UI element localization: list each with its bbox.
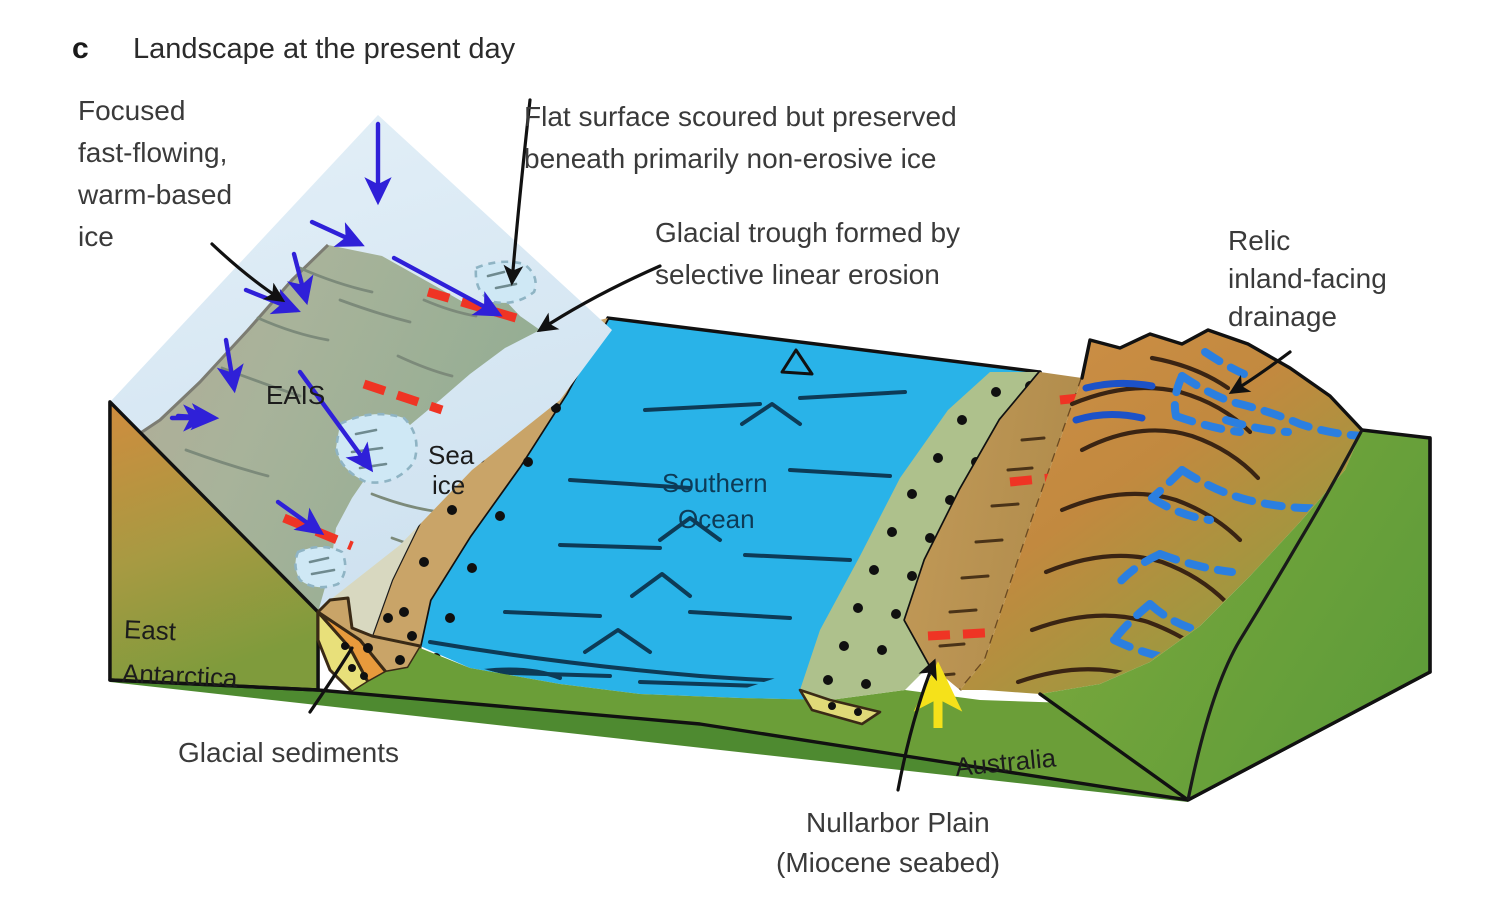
svg-text:Antarctica: Antarctica	[121, 658, 238, 693]
callout-line: (Miocene seabed)	[776, 847, 1000, 878]
block-diagram: c Landscape at the present day	[0, 0, 1506, 904]
svg-text:East: East	[123, 614, 177, 646]
callout-flat-surface: Flat surface scoured but preserved benea…	[524, 101, 957, 174]
callout-focused-ice: Focused fast-flowing, warm-based ice	[77, 95, 232, 252]
callout-line: inland-facing	[1228, 263, 1387, 294]
panel-letter: c	[72, 32, 89, 65]
svg-text:ice: ice	[432, 470, 465, 500]
callout-line: ice	[78, 221, 114, 252]
callout-glacial-trough: Glacial trough formed by selective linea…	[655, 217, 960, 290]
callout-line: Focused	[78, 95, 185, 126]
callout-relic-drainage: Relic inland-facing drainage	[1228, 225, 1387, 332]
callout-glacial-sediments: Glacial sediments	[178, 737, 399, 768]
label-eais: EAIS	[266, 380, 325, 410]
callout-line: drainage	[1228, 301, 1337, 332]
figure-panel-c: c Landscape at the present day	[0, 0, 1506, 904]
callout-line: beneath primarily non-erosive ice	[524, 143, 936, 174]
callout-line: Glacial trough formed by	[655, 217, 960, 248]
callout-line: Glacial sediments	[178, 737, 399, 768]
callout-nullarbor-plain: Nullarbor Plain (Miocene seabed)	[776, 807, 1000, 878]
callout-line: Relic	[1228, 225, 1290, 256]
callout-line: selective linear erosion	[655, 259, 940, 290]
svg-text:Southern: Southern	[662, 468, 768, 498]
page-title: Landscape at the present day	[133, 33, 516, 65]
svg-text:Ocean: Ocean	[678, 504, 755, 534]
callout-line: Nullarbor Plain	[806, 807, 990, 838]
svg-text:Sea: Sea	[428, 440, 475, 470]
callout-line: Flat surface scoured but preserved	[524, 101, 957, 132]
callout-line: warm-based	[77, 179, 232, 210]
callout-line: fast-flowing,	[78, 137, 227, 168]
